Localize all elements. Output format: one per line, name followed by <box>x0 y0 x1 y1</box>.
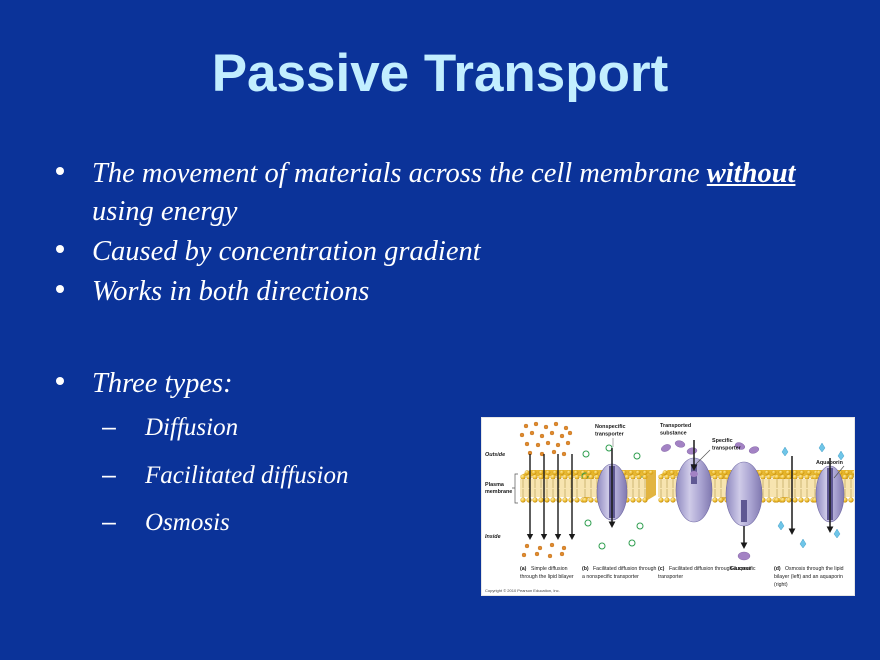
dash-icon: – <box>102 452 116 500</box>
list-item: Three types: <box>46 365 846 403</box>
label-plasma-membrane-line2: membrane <box>485 489 512 495</box>
dash-icon: – <box>102 404 116 452</box>
list-item: Caused by concentration gradient <box>46 233 846 271</box>
label-plasma-membrane-line1: Plasma <box>485 482 505 488</box>
glucose-molecule <box>738 552 750 560</box>
label-nonspecific-transporter-line1: Nonspecific <box>595 424 626 430</box>
list-item: The movement of materials across the cel… <box>46 155 846 231</box>
caption-b-line2: a nonspecific transporter <box>582 574 639 580</box>
label-transported-substance-line1: Transported <box>660 423 691 429</box>
list-item-label: The movement of materials across the cel… <box>92 155 846 193</box>
caption-a-line2: through the lipid bilayer <box>520 574 574 580</box>
list-item-emphasis: without <box>707 158 796 189</box>
list-item-label: Works in both directions <box>92 273 846 311</box>
label-transported-substance-line2: substance <box>660 431 687 437</box>
label-nonspecific-transporter-line2: transporter <box>595 432 625 438</box>
caption-d-line3: (right) <box>774 582 788 588</box>
list-item-label-line2: using energy <box>92 193 846 231</box>
sub-list-item-label: Diffusion <box>145 414 238 441</box>
slide-canvas: Passive Transport The movement of materi… <box>0 0 880 660</box>
label-specific-transporter-line2: transporter <box>712 446 742 452</box>
caption-c-line2: transporter <box>658 574 683 580</box>
caption-a-line1: Simple diffusion <box>531 566 568 572</box>
caption-c-tag: (c) <box>658 566 665 572</box>
label-inside: Inside <box>485 534 501 540</box>
caption-d-tag: (d) <box>774 566 781 572</box>
caption-c-line1: Facilitated diffusion through a specific <box>669 566 756 572</box>
dash-icon: – <box>102 499 116 547</box>
caption-d-line1: Osmosis through the lipid <box>785 566 844 572</box>
copyright-line: Copyright © 2010 Pearson Education, Inc. <box>485 588 560 593</box>
label-aquaporin: Aquaporin <box>816 460 843 466</box>
list-spacer <box>46 313 846 365</box>
page-title: Passive Transport <box>0 46 880 102</box>
bullet-dot-icon <box>56 155 78 188</box>
bound-substance <box>690 471 698 477</box>
diagram-svg: Outside Plasma membrane Inside Nonspecif… <box>482 418 854 595</box>
caption-d-line2: bilayer (left) and an aquaporin <box>774 574 843 580</box>
caption-a-tag: (a) <box>520 566 527 572</box>
list-item-label: Three types: <box>92 365 846 403</box>
bullet-dot-icon <box>56 273 78 306</box>
passive-transport-diagram: Outside Plasma membrane Inside Nonspecif… <box>481 417 855 596</box>
label-outside: Outside <box>485 452 505 458</box>
bullet-dot-icon <box>56 233 78 266</box>
list-item-label: Caused by concentration gradient <box>92 233 846 271</box>
list-item-text-before: The movement of materials across the cel… <box>92 158 707 189</box>
caption-b-line1: Facilitated diffusion through <box>593 566 656 572</box>
caption-b-tag: (b) <box>582 566 589 572</box>
sub-list-item-label: Osmosis <box>145 509 230 536</box>
label-specific-transporter-line1: Specific <box>712 438 733 444</box>
list-item: Works in both directions <box>46 273 846 311</box>
sub-list-item-label: Facilitated diffusion <box>145 462 348 489</box>
bullet-dot-icon <box>56 365 78 398</box>
